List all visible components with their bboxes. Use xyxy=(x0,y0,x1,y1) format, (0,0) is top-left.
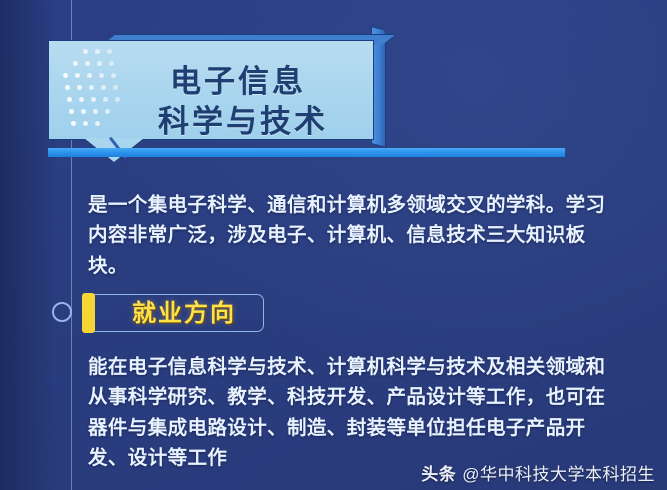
title-text-block: 电子信息 科学与技术 xyxy=(107,63,369,142)
intro-paragraph: 是一个集电子科学、通信和计算机多领域交叉的学科。学习内容非常广泛，涉及电子、计算… xyxy=(88,190,618,281)
accent-divider-bar xyxy=(48,148,565,157)
slide-canvas: 电子信息 科学与技术 是一个集电子科学、通信和计算机多领域交叉的学科。学习内容非… xyxy=(0,0,667,490)
watermark-brand: 头条 xyxy=(421,460,456,485)
bullet-circle-icon xyxy=(52,302,72,322)
title-line-2: 科学与技术 xyxy=(117,103,369,143)
career-paragraph: 能在电子信息科学与技术、计算机科学与技术及相关领域和从事科学研究、教学、科技开发… xyxy=(88,352,623,474)
section-badge-accent-bar xyxy=(82,293,95,333)
watermark-handle: @华中科技大学本科招生 xyxy=(462,460,655,485)
section-badge-label: 就业方向 xyxy=(114,296,254,330)
title-line-1: 电子信息 xyxy=(107,63,369,103)
watermark: 头条 @华中科技大学本科招生 xyxy=(421,460,655,485)
title-card-front-face: 电子信息 科学与技术 xyxy=(48,40,374,140)
title-card: 电子信息 科学与技术 xyxy=(48,20,386,138)
